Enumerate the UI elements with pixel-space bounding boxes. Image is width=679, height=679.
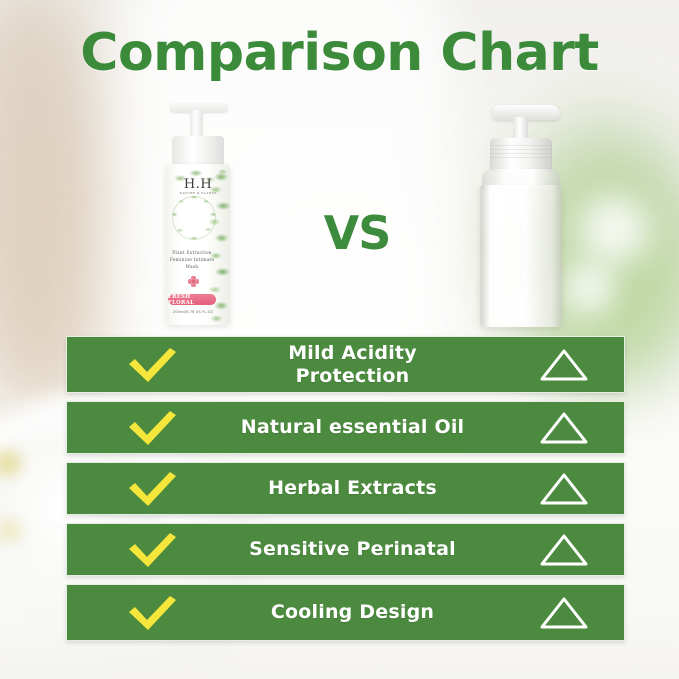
theirs-cell: [504, 347, 624, 383]
pump-collar: [172, 136, 224, 166]
warning-triangle-icon: [538, 410, 590, 446]
table-row[interactable]: Natural essential Oil: [66, 401, 625, 454]
bottle-highlight-plain: [494, 191, 503, 319]
versus-label: VS: [322, 206, 392, 260]
theirs-cell: [504, 595, 624, 631]
comparison-chart-infographic: Comparison Chart H.H NATURE & PLANTS Pla…: [0, 0, 679, 679]
check-mark-icon: [126, 346, 178, 384]
check-mark-icon: [126, 409, 178, 447]
ours-cell: [67, 346, 237, 384]
warning-triangle-icon: [538, 532, 590, 568]
theirs-cell: [504, 410, 624, 446]
table-row[interactable]: Sensitive Perinatal: [66, 523, 625, 576]
warning-triangle-icon: [538, 471, 590, 507]
comparison-rows: Mild Acidity Protection Natural essentia…: [66, 336, 625, 649]
pump-stem: [190, 110, 203, 138]
botanical-wreath-icon: [172, 196, 216, 240]
table-row[interactable]: Herbal Extracts: [66, 462, 625, 515]
bottle-body-plain: [480, 185, 562, 327]
product-bottle-ours: H.H NATURE & PLANTS Plant Extraction Fem…: [152, 100, 244, 325]
bottle-description: Plant Extraction Feminine Intimate Wash: [169, 250, 215, 271]
feature-label: Mild Acidity Protection: [237, 342, 504, 388]
flower-icon: [188, 276, 199, 287]
table-row[interactable]: Cooling Design: [66, 584, 625, 641]
product-bottle-theirs: [466, 105, 572, 327]
warning-triangle-icon: [538, 347, 590, 383]
scent-badge: FRESH FLORAL: [168, 294, 216, 305]
theirs-cell: [504, 471, 624, 507]
check-mark-icon: [126, 594, 178, 632]
page-title: Comparison Chart: [0, 22, 679, 84]
ours-cell: [67, 409, 237, 447]
feature-label: Herbal Extracts: [237, 477, 504, 500]
check-mark-icon: [126, 470, 178, 508]
ours-cell: [67, 594, 237, 632]
bottle-body-labelled: H.H NATURE & PLANTS Plant Extraction Fem…: [166, 164, 230, 325]
brand-logo: H.H: [166, 177, 230, 192]
feature-label: Sensitive Perinatal: [237, 538, 504, 561]
theirs-cell: [504, 532, 624, 568]
bottle-volume: 200ml/6.76 US FL.OZ: [166, 310, 220, 314]
check-mark-icon: [126, 531, 178, 569]
feature-label: Cooling Design: [237, 601, 504, 624]
brand-tagline: NATURE & PLANTS: [166, 191, 230, 195]
feature-label: Natural essential Oil: [237, 416, 504, 439]
pump-collar-ridges: [490, 145, 552, 159]
ours-cell: [67, 470, 237, 508]
ours-cell: [67, 531, 237, 569]
table-row[interactable]: Mild Acidity Protection: [66, 336, 625, 393]
warning-triangle-icon: [538, 595, 590, 631]
